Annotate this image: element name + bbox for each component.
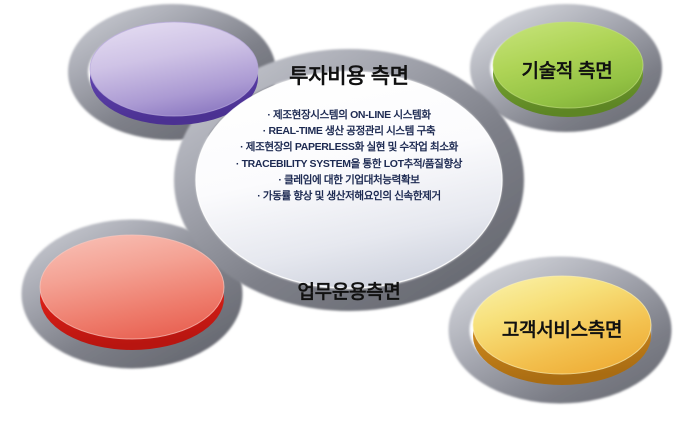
- center-benefit-line-6: · 가동률 향상 및 생산저해요인의 신속한제거: [0, 188, 698, 204]
- center-benefit-line-5: · 클레임에 대한 기업대처능력확보: [0, 172, 698, 188]
- center-benefit-list: · 제조현장시스템의 ON-LINE 시스템화 · REAL-TIME 생산 공…: [0, 107, 698, 204]
- node-disc-business-operation[interactable]: [40, 235, 224, 350]
- ring-network-diagram: 투자비용 측면 기술적 측면 업무운용측면 고객서비스측면 · 제조현장시스템의…: [0, 0, 698, 422]
- center-benefit-line-2: · REAL-TIME 생산 공정관리 시스템 구축: [0, 123, 698, 139]
- node-disc-customer-service[interactable]: [473, 276, 651, 385]
- center-benefit-line-1: · 제조현장시스템의 ON-LINE 시스템화: [0, 107, 698, 123]
- diagram-canvas: [0, 0, 698, 422]
- center-benefit-line-3: · 제조현장의 PAPERLESS화 실현 및 수작업 최소화: [0, 139, 698, 155]
- center-benefit-line-4: · TRACEBILITY SYSTEM을 통한 LOT추적/품질향상: [0, 156, 698, 172]
- node-disc-technical[interactable]: [493, 22, 643, 117]
